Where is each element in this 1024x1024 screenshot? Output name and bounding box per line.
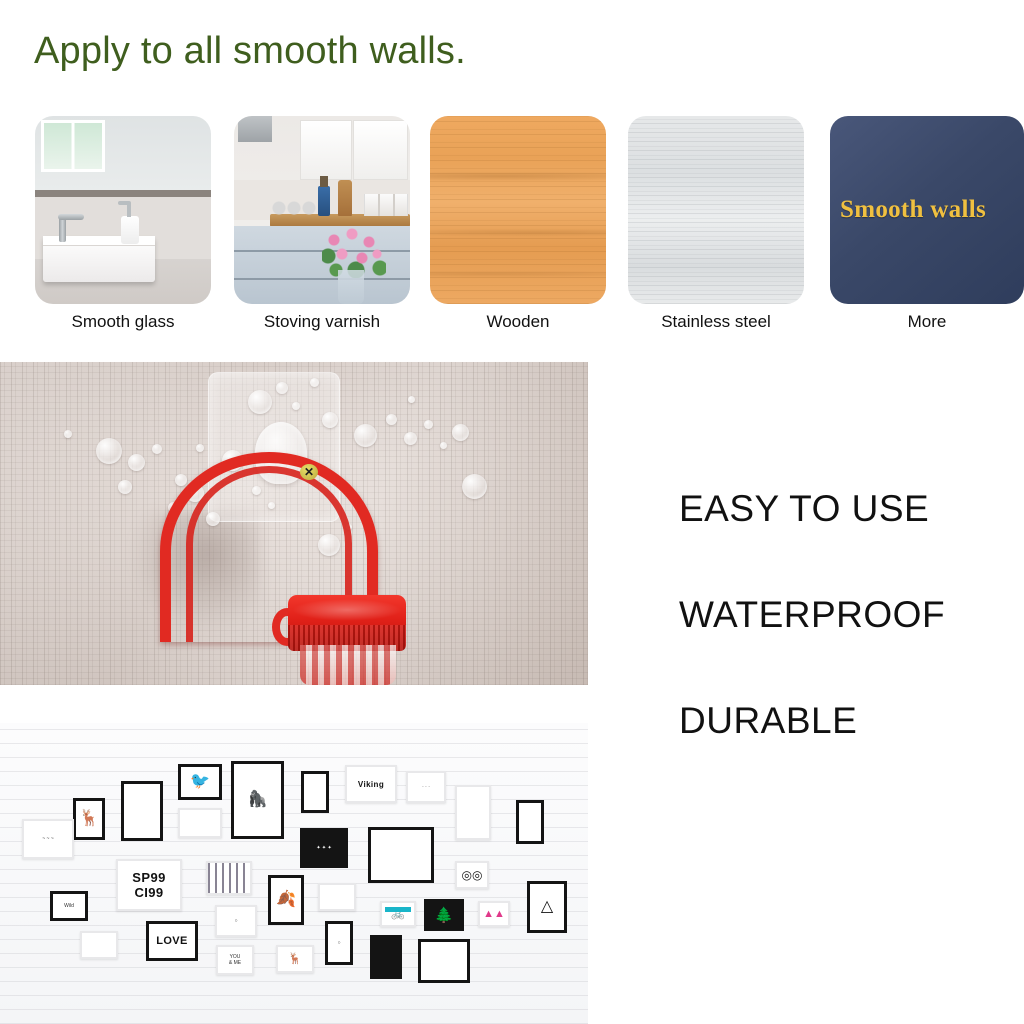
soap-dispenser-icon (121, 216, 139, 244)
frame-art: ○ (328, 924, 350, 962)
picture-frame (368, 827, 434, 883)
picture-frame: · · · (406, 771, 446, 803)
surface-label-wooden: Wooden (486, 312, 549, 332)
frame-art: LOVE (149, 924, 195, 958)
picture-frame: LOVE (146, 921, 198, 961)
mustache-icon: ◎◎ (462, 869, 483, 881)
upper-cabinet (353, 120, 408, 180)
frame-art: YOU & ME (218, 947, 252, 973)
gallery-wall-photo: 🦌 🐦 🦍 Viking · · · (0, 723, 588, 1024)
viking-label: Viking (358, 780, 384, 789)
frame-art: SP99 CI99 (118, 861, 180, 909)
deer-icon: 🦌 (79, 811, 99, 827)
picture-frame: ▲▲ (478, 901, 510, 927)
picture-frame: ✦ ✦ ✦ (300, 828, 348, 868)
frame-art (320, 885, 354, 909)
bird-icon: 🐦 (190, 774, 210, 790)
pine-tree-icon: 🌲 (435, 908, 454, 923)
bottle-neck (300, 645, 396, 685)
wall-band (35, 190, 211, 197)
surface-label-stainless-steel: Stainless steel (661, 312, 771, 332)
picture-frame: 🐦 (178, 764, 222, 800)
frame-art: 🦌 (76, 801, 102, 837)
frame-art: 🚲 (382, 903, 414, 925)
frame-art: · · · (408, 773, 444, 801)
frame-art (519, 803, 541, 841)
circle-text: ○ (337, 940, 340, 946)
screw-icon (300, 464, 318, 480)
bicycle-icon: 🚲 (391, 909, 405, 920)
spci-label-bottom: CI99 (134, 885, 163, 900)
more-overlay-text: Smooth walls (840, 196, 986, 224)
surface-tile-more[interactable]: Smooth walls More (830, 116, 1024, 304)
frame-art: ▲▲ (480, 903, 508, 925)
cutting-board-icon (338, 180, 352, 216)
frame-art: 🍂 (271, 878, 301, 922)
surface-label-stoving-varnish: Stoving varnish (264, 312, 380, 332)
frame-art: ◎◎ (457, 863, 487, 887)
picture-frame (516, 800, 544, 844)
surface-tile-row: Smooth glass Stoving varnish Wooden (0, 116, 1024, 356)
stoving-varnish-thumbnail (234, 116, 410, 304)
range-hood-icon (238, 116, 272, 142)
page-title: Apply to all smooth walls. (34, 30, 466, 73)
surface-tile-stainless-steel[interactable]: Stainless steel (628, 116, 804, 304)
frame-art: ○ (217, 907, 255, 935)
frame-art: 🐦 (181, 767, 219, 797)
circle-text: ○ (234, 918, 237, 924)
picture-frame: 🦍 (231, 761, 284, 839)
picture-frame: 🦌 (73, 798, 105, 840)
frame-art: 🦌 (278, 947, 312, 971)
hook-product-photo (0, 362, 588, 685)
benefit-item: WATERPROOF (679, 594, 1009, 636)
picture-frame: 🌲 (424, 899, 464, 931)
more-thumbnail: Smooth walls (830, 116, 1024, 304)
faucet-icon (59, 218, 66, 242)
deer-icon: 🦌 (288, 954, 302, 965)
frame-art: 🌲 (427, 902, 461, 928)
frame-art: ~ ~ ~ (24, 821, 72, 857)
surface-tile-smooth-glass[interactable]: Smooth glass (35, 116, 211, 304)
picture-frame (418, 939, 470, 983)
canisters-icon (364, 194, 408, 216)
frame-art: △ (530, 884, 564, 930)
upper-cabinet (300, 120, 352, 180)
picture-frame: 🍂 (268, 875, 304, 925)
picture-frame (80, 931, 118, 959)
small-text: Wild (64, 903, 74, 909)
frame-art (124, 784, 160, 838)
benefit-list: EASY TO USE WATERPROOF DURABLE (679, 488, 1009, 806)
frame-art: Wild (53, 894, 85, 918)
picture-frame: 🦌 (276, 945, 314, 973)
surface-tile-wooden[interactable]: Wooden (430, 116, 606, 304)
frame-art (371, 830, 431, 880)
picture-frame: 🚲 (380, 901, 416, 927)
picture-frame: ◎◎ (455, 861, 489, 889)
frame-art (457, 787, 489, 838)
jars-icon (272, 200, 316, 216)
picture-frame (121, 781, 163, 841)
picture-frame: ○ (215, 905, 257, 937)
picture-frame: YOU & ME (216, 945, 254, 975)
picture-frame (455, 785, 491, 840)
spci-label-top: SP99 (132, 870, 165, 885)
infographic-page: Apply to all smooth walls. Smooth glass (0, 0, 1024, 1024)
frame-art (421, 942, 467, 980)
picture-frame (178, 808, 222, 838)
leaf-icon: 🍂 (276, 892, 296, 908)
frame-art: ✦ ✦ ✦ (303, 831, 345, 865)
surface-tile-stoving-varnish[interactable]: Stoving varnish (234, 116, 410, 304)
picture-frame: Viking (345, 765, 397, 803)
picture-frame: Wild (50, 891, 88, 921)
stainless-steel-thumbnail (628, 116, 804, 304)
vase-icon (338, 270, 364, 304)
bottle-cap (288, 595, 406, 651)
surface-label-more: More (908, 312, 947, 332)
frame-art (304, 774, 326, 810)
frame-art: 🦍 (234, 764, 281, 836)
frame-art (82, 933, 116, 957)
benefit-item: EASY TO USE (679, 488, 1009, 530)
dog-icon: ▲▲ (483, 909, 505, 920)
geometric-deer-icon: △ (541, 899, 553, 915)
love-label: LOVE (156, 935, 188, 947)
picture-frame (301, 771, 329, 813)
benefit-item: DURABLE (679, 700, 1009, 742)
handwriting-text: ~ ~ ~ (42, 836, 54, 842)
picture-frame (370, 935, 402, 979)
smooth-glass-thumbnail (35, 116, 211, 304)
frame-art (180, 810, 220, 836)
picture-frame: △ (527, 881, 567, 933)
rune-text: ✦ ✦ ✦ (316, 845, 331, 851)
surface-label-smooth-glass: Smooth glass (72, 312, 175, 332)
window-icon (41, 120, 105, 172)
picture-frame: SP99 CI99 (116, 859, 182, 911)
picture-frame: ○ (325, 921, 353, 965)
antlers-icon: 🦍 (248, 792, 268, 808)
wooden-thumbnail (430, 116, 606, 304)
bottle-icon (318, 186, 330, 216)
picture-frame: ~ ~ ~ (22, 819, 74, 859)
frame-art: Viking (347, 767, 395, 801)
frame-art (373, 938, 399, 976)
youme-label-bottom: & ME (229, 960, 241, 966)
picture-frame (206, 861, 252, 895)
frame-art (208, 863, 250, 893)
poem-text: · · · (422, 784, 430, 790)
picture-frame (318, 883, 356, 911)
